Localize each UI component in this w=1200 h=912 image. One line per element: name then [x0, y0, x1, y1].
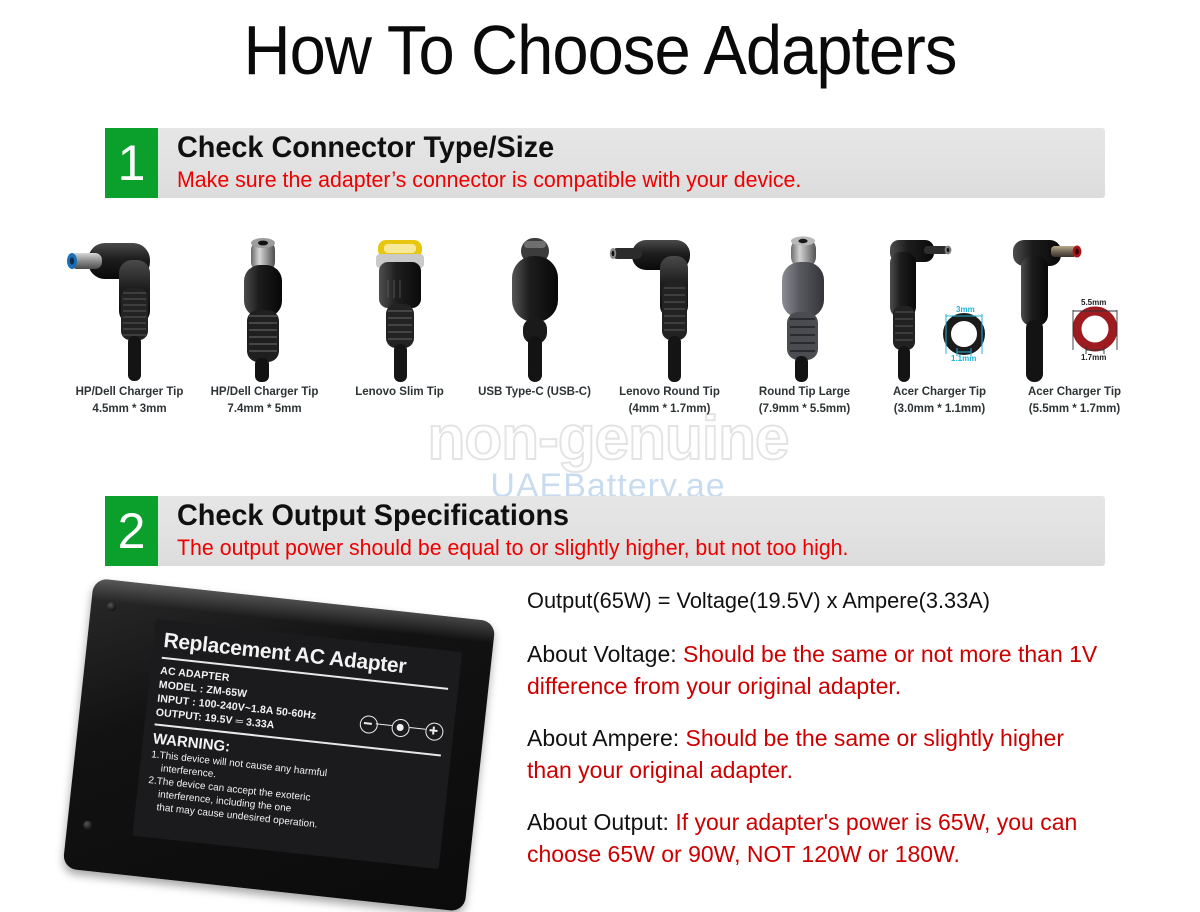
- step-1-number-badge: 1: [105, 128, 158, 198]
- about-ampere-label: About Ampere:: [527, 725, 686, 751]
- acer-large-inner-dimension: 1.7mm: [1081, 353, 1106, 362]
- page-title: How To Choose Adapters: [42, 6, 1158, 94]
- connector-gallery: HP/Dell Charger Tip 4.5mm * 3mm: [62, 232, 1142, 432]
- connector-item-lenovo-round: Lenovo Round Tip (4mm * 1.7mm): [602, 232, 737, 432]
- connector-item-round-large: Round Tip Large (7.9mm * 5.5mm): [737, 232, 872, 432]
- step-2-subtitle: The output power should be equal to or s…: [177, 534, 1069, 562]
- about-output-label: About Output:: [527, 809, 675, 835]
- connector-caption: Round Tip Large (7.9mm * 5.5mm): [729, 384, 880, 418]
- adapter-brick-body: Replacement AC Adapter AC ADAPTER MODEL …: [62, 578, 495, 912]
- connector-item-lenovo-slim: Lenovo Slim Tip: [332, 232, 467, 432]
- step-1-title: Check Connector Type/Size: [177, 130, 1060, 166]
- straight-barrel-tip-icon: [197, 232, 332, 382]
- lenovo-round-right-angle-icon: [602, 232, 737, 382]
- acer-small-outer-dimension: 3mm: [956, 305, 975, 314]
- connector-caption: Lenovo Slim Tip: [324, 384, 475, 401]
- ac-adapter-photo: Replacement AC Adapter AC ADAPTER MODEL …: [86, 572, 506, 892]
- step-2-title: Check Output Specifications: [177, 498, 1060, 534]
- step-1-header: 1 Check Connector Type/Size Make sure th…: [105, 128, 1105, 198]
- output-equation: Output(65W) = Voltage(19.5V) x Ampere(3.…: [527, 586, 1101, 616]
- about-voltage-label: About Voltage:: [527, 641, 683, 667]
- about-ampere-row: About Ampere: Should be the same or slig…: [527, 722, 1107, 786]
- connector-item-acer-large: 5.5mm 1.7mm Acer Charger Tip (5.5mm * 1.…: [1007, 232, 1142, 432]
- connector-caption: Acer Charger Tip (5.5mm * 1.7mm): [999, 384, 1150, 418]
- about-output-row: About Output: If your adapter's power is…: [527, 806, 1107, 870]
- adapter-spec-label: Replacement AC Adapter AC ADAPTER MODEL …: [132, 619, 462, 869]
- output-specifications-text: Output(65W) = Voltage(19.5V) x Ampere(3.…: [527, 586, 1107, 890]
- acer-large-tip-icon: 5.5mm 1.7mm: [1007, 232, 1142, 382]
- connector-item-hp-dell-4.5mm: HP/Dell Charger Tip 4.5mm * 3mm: [62, 232, 197, 432]
- how-to-choose-adapters-infographic: How To Choose Adapters 1 Check Connector…: [0, 0, 1200, 900]
- acer-small-tip-icon: 3mm 1.1mm: [872, 232, 1007, 382]
- screw-dot: [107, 602, 117, 612]
- about-voltage-row: About Voltage: Should be the same or not…: [527, 638, 1107, 702]
- connector-item-usb-c: USB Type-C (USB-C): [467, 232, 602, 432]
- right-angle-blue-tip-icon: [62, 232, 197, 382]
- acer-small-inner-dimension: 1.1mm: [951, 354, 976, 363]
- usb-c-connector-icon: [467, 232, 602, 382]
- connector-item-hp-dell-7.4mm: HP/Dell Charger Tip 7.4mm * 5mm: [197, 232, 332, 432]
- connector-caption: HP/Dell Charger Tip 7.4mm * 5mm: [189, 384, 340, 418]
- gray-round-large-tip-icon: [737, 232, 872, 382]
- step-2-header: 2 Check Output Specifications The output…: [105, 496, 1105, 566]
- connector-caption: HP/Dell Charger Tip 4.5mm * 3mm: [54, 384, 205, 418]
- connector-caption: Lenovo Round Tip (4mm * 1.7mm): [594, 384, 745, 418]
- connector-caption: USB Type-C (USB-C): [459, 384, 610, 401]
- lenovo-yellow-slim-tip-icon: [332, 232, 467, 382]
- connector-item-acer-small: 3mm 1.1mm Acer Charger Tip (3.0mm * 1.1m…: [872, 232, 1007, 432]
- step-2-number-badge: 2: [105, 496, 158, 566]
- screw-dot: [83, 820, 93, 830]
- step-1-subtitle: Make sure the adapter’s connector is com…: [177, 166, 1069, 194]
- connector-caption: Acer Charger Tip (3.0mm * 1.1mm): [864, 384, 1015, 418]
- acer-large-outer-dimension: 5.5mm: [1081, 298, 1106, 307]
